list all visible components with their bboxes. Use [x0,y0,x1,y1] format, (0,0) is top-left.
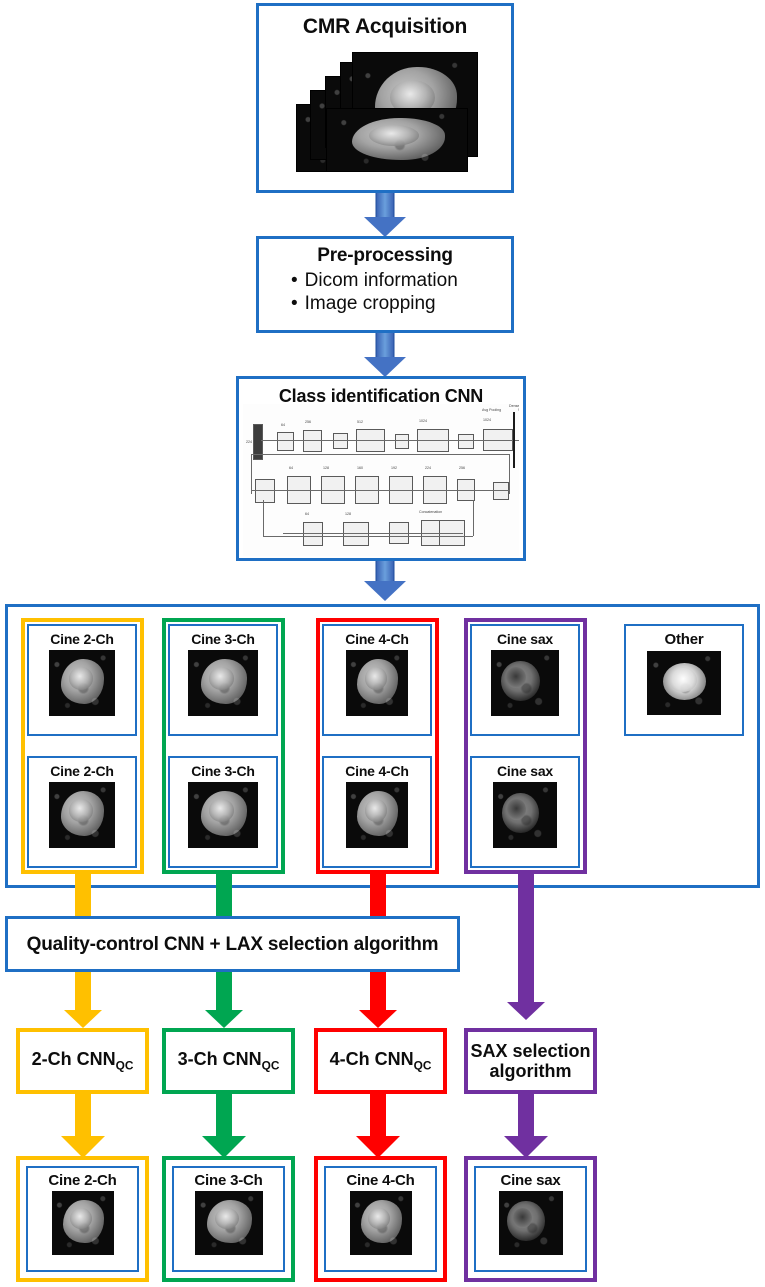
arrowhead-output-3ch [202,1136,246,1158]
class-card-label: Cine 2-Ch [29,763,135,779]
qc-module-2ch-label: 2-Ch CNN [32,1049,116,1069]
connector-4ch-to-qc [370,874,386,918]
connector-2ch-module-to-output [75,1094,91,1138]
class-card-label: Cine 2-Ch [29,631,135,647]
qc-module-3ch: 3-Ch CNNQC [162,1028,295,1094]
output-cine-sax-image [499,1191,563,1255]
cine-3ch-image-1 [188,650,258,716]
connector-sax-module-to-output [518,1094,534,1138]
cine-sax-image-2 [493,782,557,848]
arrowhead-4ch-module [359,1010,397,1028]
sax-selection-label-line2: algorithm [489,1061,571,1081]
class-card-label: Cine 4-Ch [324,763,430,779]
class-card-cine-4ch-2: Cine 4-Ch [322,756,432,868]
cmr-acquisition-title: CMR Acquisition [259,15,511,39]
connector-3ch-to-qc [216,874,232,918]
arrowhead-output-sax [504,1136,548,1158]
bullet-icon: • [291,270,298,292]
arrow-acquisition-to-preprocessing [363,193,407,237]
cine-3ch-image-2 [188,782,258,848]
qc-module-4ch-label: 4-Ch CNN [330,1049,414,1069]
class-card-cine-3ch-2: Cine 3-Ch [168,756,278,868]
class-card-cine-2ch-2: Cine 2-Ch [27,756,137,868]
class-card-cine-3ch-1: Cine 3-Ch [168,624,278,736]
cine-2ch-image-2 [49,782,115,848]
class-card-cine-4ch-1: Cine 4-Ch [322,624,432,736]
class-card-label: Cine 3-Ch [170,763,276,779]
cmr-image-stack [296,46,481,171]
cine-sax-image-1 [491,650,559,716]
qc-module-4ch-subscript: QC [414,1059,432,1073]
class-card-cine-2ch-1: Cine 2-Ch [27,624,137,736]
qc-module-3ch-label: 3-Ch CNN [178,1049,262,1069]
other-image-1 [647,651,721,715]
class-card-label: Cine sax [472,631,578,647]
preprocessing-box: Pre-processing • Dicom information • Ima… [256,236,514,333]
qc-module-3ch-subscript: QC [262,1059,280,1073]
preprocessing-bullet-2: • Image cropping [291,293,501,315]
class-card-cine-sax-1: Cine sax [470,624,580,736]
output-card-cine-3ch: Cine 3-Ch [172,1166,285,1272]
arrowhead-sax-module [507,1002,545,1020]
output-cine-3ch-image [195,1191,263,1255]
class-card-label: Cine sax [472,763,578,779]
connector-sax-bypass-qc [518,874,534,1004]
preprocessing-bullet-1: • Dicom information [291,270,501,292]
arrowhead-output-2ch [61,1136,105,1158]
output-card-cine-sax: Cine sax [474,1166,587,1272]
qc-module-2ch: 2-Ch CNNQC [16,1028,149,1094]
output-cine-4ch-image [350,1191,412,1255]
preprocessing-bullet-1-label: Dicom information [305,270,458,292]
output-card-cine-2ch: Cine 2-Ch [26,1166,139,1272]
connector-qc-to-2ch-module [75,972,91,1012]
preprocessing-bullet-2-label: Image cropping [305,293,436,315]
arrow-cnn-to-classes [363,561,407,605]
class-card-cine-sax-2: Cine sax [470,756,580,868]
bullet-icon: • [291,293,298,315]
cine-4ch-image-2 [346,782,408,848]
connector-4ch-module-to-output [370,1094,386,1138]
output-card-label: Cine 2-Ch [28,1172,137,1189]
qc-module-4ch: 4-Ch CNNQC [314,1028,447,1094]
quality-control-banner: Quality-control CNN + LAX selection algo… [5,916,460,972]
arrow-preprocessing-to-cnn [363,333,407,377]
connector-3ch-module-to-output [216,1094,232,1138]
cine-2ch-image-1 [49,650,115,716]
arrowhead-2ch-module [64,1010,102,1028]
class-card-label: Cine 4-Ch [324,631,430,647]
output-card-label: Cine sax [476,1172,585,1189]
qc-module-sax-selection: SAX selection algorithm [464,1028,597,1094]
arrowhead-output-4ch [356,1136,400,1158]
cnn-architecture-schematic: 224 64 256 512 1024 1024 Avg Pooling Den… [243,404,519,556]
sax-selection-label-line1: SAX selection [470,1041,590,1061]
arrowhead-3ch-module [205,1010,243,1028]
class-card-other-1: Other [624,624,744,736]
output-cine-2ch-image [52,1191,114,1255]
output-card-label: Cine 3-Ch [174,1172,283,1189]
connector-qc-to-3ch-module [216,972,232,1012]
output-card-cine-4ch: Cine 4-Ch [324,1166,437,1272]
output-card-label: Cine 4-Ch [326,1172,435,1189]
preprocessing-title: Pre-processing [269,245,501,267]
cine-4ch-image-1 [346,650,408,716]
class-card-label: Cine 3-Ch [170,631,276,647]
class-card-label: Other [626,631,742,648]
qc-module-2ch-subscript: QC [116,1059,134,1073]
connector-qc-to-4ch-module [370,972,386,1012]
quality-control-banner-label: Quality-control CNN + LAX selection algo… [8,934,457,956]
connector-2ch-to-qc [75,874,91,918]
